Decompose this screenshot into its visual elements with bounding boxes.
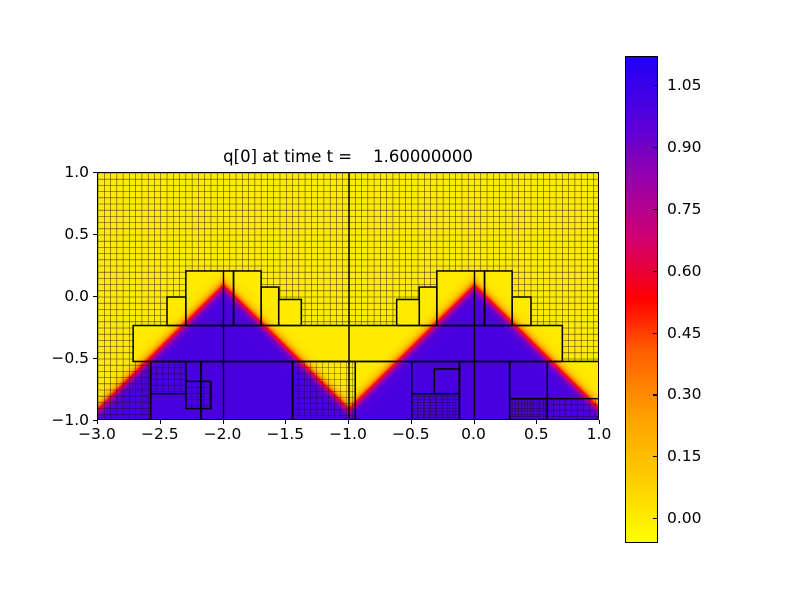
xtick-label: −0.5 bbox=[392, 425, 430, 443]
colorbar-tick-label: 0.60 bbox=[667, 262, 702, 280]
xtick-mark bbox=[223, 420, 224, 424]
colorbar-tick-mark bbox=[653, 271, 658, 272]
xtick-mark bbox=[599, 420, 600, 424]
axes-frame bbox=[97, 172, 599, 420]
ytick-label: 0.5 bbox=[39, 225, 89, 243]
colorbar-tick-label: 0.45 bbox=[667, 324, 702, 342]
colorbar-tick-label: 0.75 bbox=[667, 200, 702, 218]
ytick-label: 1.0 bbox=[39, 163, 89, 181]
ytick-mark bbox=[93, 172, 97, 173]
ytick-mark bbox=[93, 296, 97, 297]
xtick-mark bbox=[536, 420, 537, 424]
ytick-mark bbox=[93, 420, 97, 421]
ytick-label: 0.0 bbox=[39, 287, 89, 305]
xtick-label: −2.5 bbox=[141, 425, 179, 443]
colorbar-tick-mark bbox=[653, 147, 658, 148]
colorbar-tick-label: 1.05 bbox=[667, 76, 702, 94]
xtick-label: −1.5 bbox=[266, 425, 304, 443]
xtick-label: −2.0 bbox=[204, 425, 242, 443]
xtick-mark bbox=[411, 420, 412, 424]
xtick-label: −1.0 bbox=[329, 425, 367, 443]
colorbar-tick-mark bbox=[653, 209, 658, 210]
xtick-mark bbox=[285, 420, 286, 424]
xtick-label: 0.5 bbox=[524, 425, 549, 443]
ytick-mark bbox=[93, 358, 97, 359]
amr-mesh-overlay bbox=[98, 173, 599, 420]
colorbar-tick-label: 0.00 bbox=[667, 509, 702, 527]
ytick-label: −1.0 bbox=[39, 411, 89, 429]
colorbar-tick-label: 0.90 bbox=[667, 138, 702, 156]
xtick-mark bbox=[348, 420, 349, 424]
xtick-mark bbox=[160, 420, 161, 424]
page-title: q[0] at time t = 1.60000000 bbox=[97, 147, 599, 166]
colorbar-tick-mark bbox=[653, 394, 658, 395]
ytick-mark bbox=[93, 234, 97, 235]
xtick-label: 1.0 bbox=[587, 425, 612, 443]
colorbar-tick-mark bbox=[653, 456, 658, 457]
colorbar-tick-mark bbox=[653, 518, 658, 519]
colorbar-gradient bbox=[625, 56, 658, 543]
colorbar-tick-label: 0.15 bbox=[667, 447, 702, 465]
plot-axes bbox=[97, 172, 599, 420]
figure-canvas: q[0] at time t = 1.60000000 −3.0−2.5−2.0… bbox=[0, 0, 800, 600]
colorbar-tick-mark bbox=[653, 85, 658, 86]
colorbar-tick-mark bbox=[653, 333, 658, 334]
xtick-mark bbox=[97, 420, 98, 424]
colorbar bbox=[625, 56, 658, 543]
xtick-mark bbox=[474, 420, 475, 424]
colorbar-tick-label: 0.30 bbox=[667, 385, 702, 403]
xtick-label: 0.0 bbox=[461, 425, 486, 443]
ytick-label: −0.5 bbox=[39, 349, 89, 367]
